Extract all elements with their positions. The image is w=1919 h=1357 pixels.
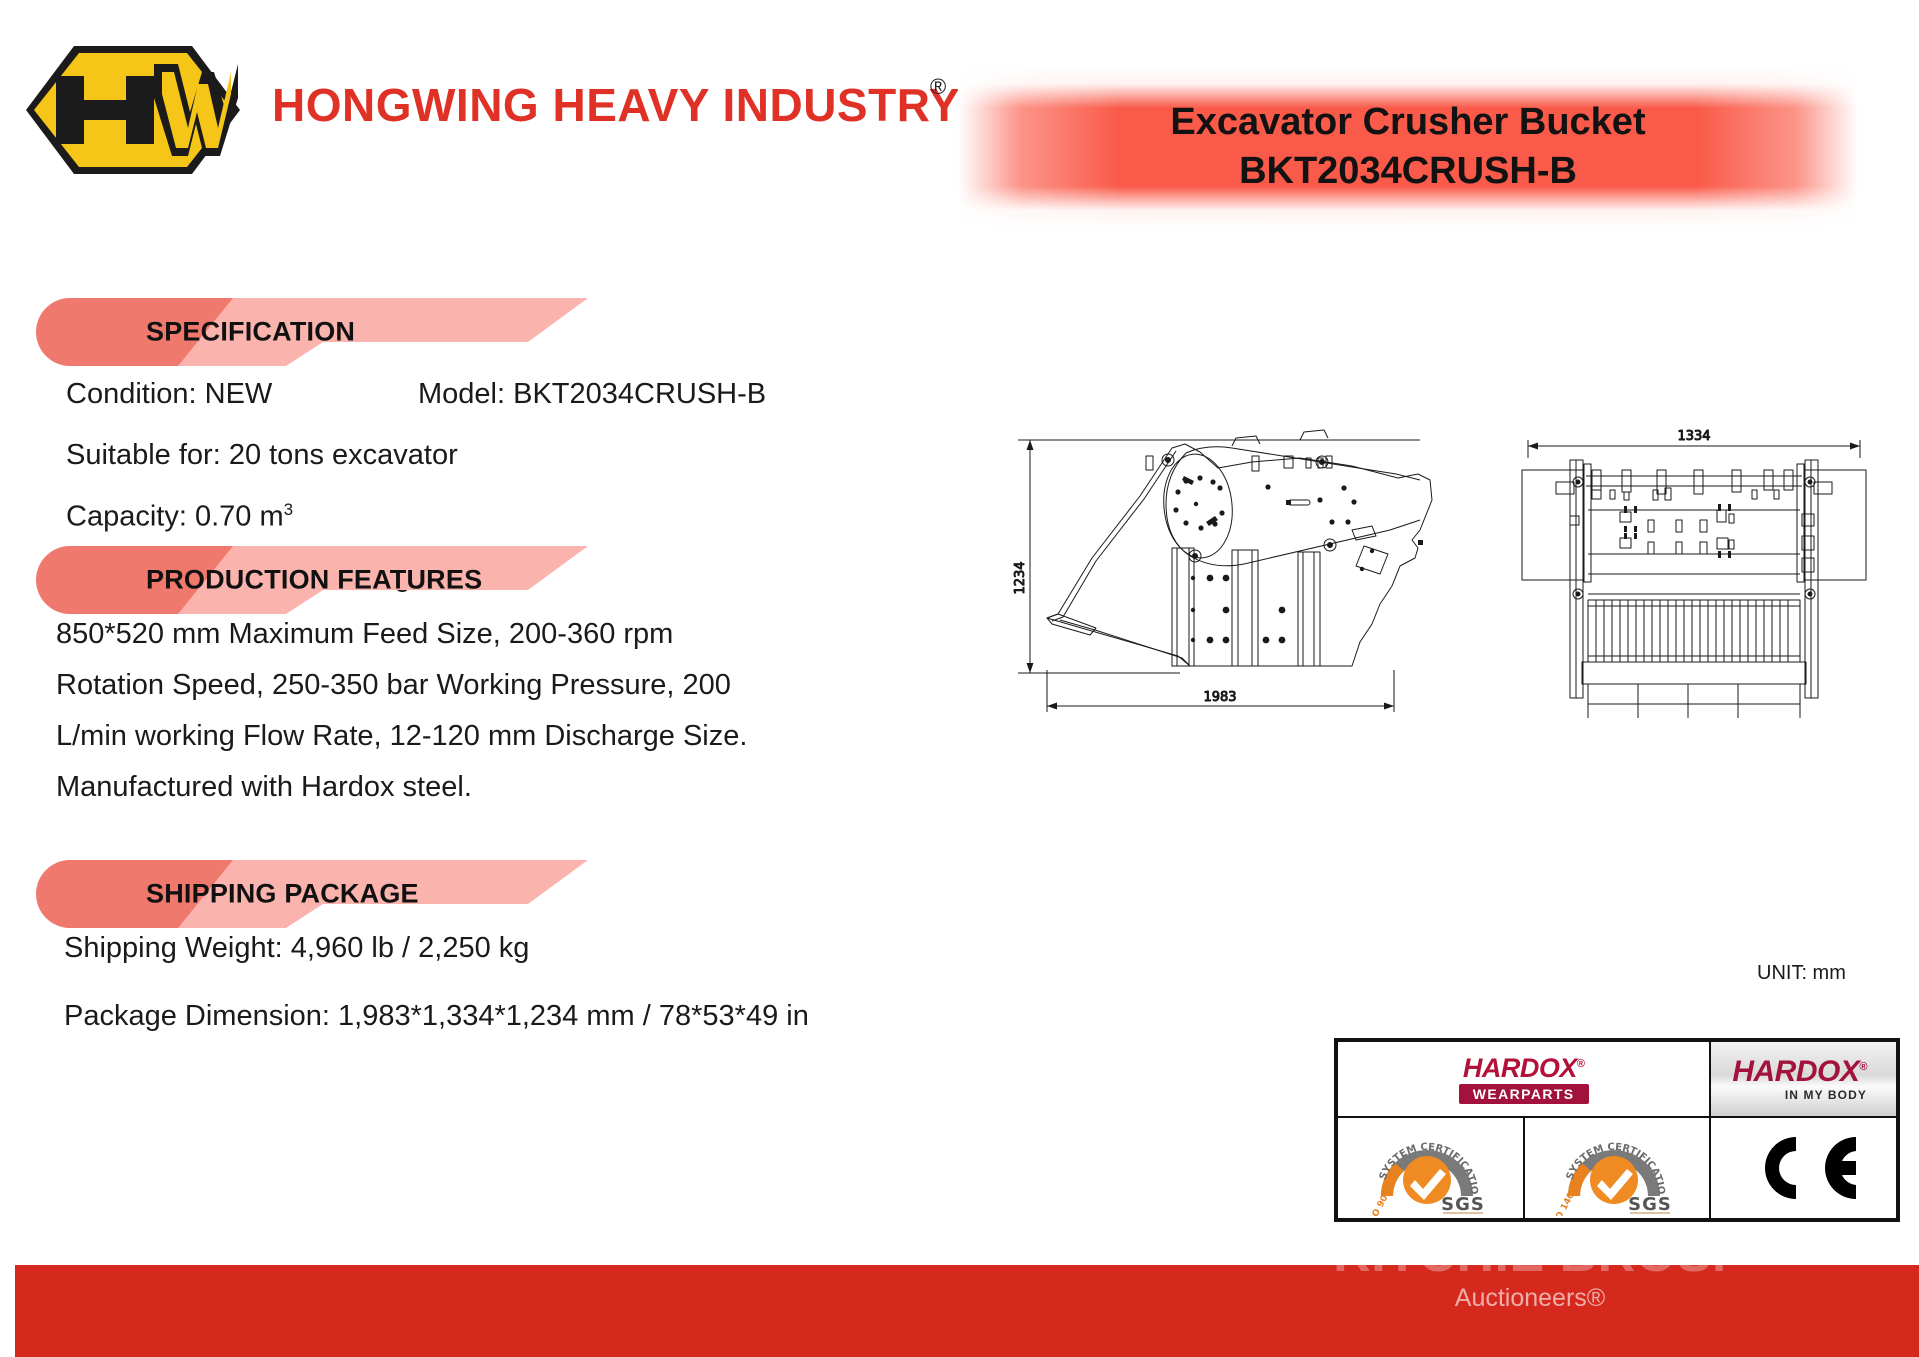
hardox-wearparts-sub: WEARPARTS [1459, 1084, 1589, 1104]
footer-bar [15, 1265, 1919, 1357]
feature-line-2: Rotation Speed, 250-350 bar Working Pres… [56, 669, 731, 702]
spec-suitable-for: Suitable for: 20 tons excavator [66, 439, 458, 472]
section-badge-specification: SPECIFICATION [28, 296, 588, 368]
sgs-seal-icon: SYSTEM CERTIFICATION ISO 9001 SGS [1355, 1120, 1505, 1216]
svg-text:1983: 1983 [1203, 690, 1236, 705]
hardox-wearparts-badge: HARDOX® WEARPARTS [1337, 1041, 1710, 1117]
section-title-production-features: PRODUCTION FEATURES [146, 565, 482, 596]
sgs-iso9001-badge: SYSTEM CERTIFICATION ISO 9001 SGS [1337, 1117, 1524, 1219]
technical-drawing: 1234 [1000, 418, 1900, 718]
hardox-body-brand-text: HARDOX [1732, 1055, 1859, 1088]
hardox-wearparts-brand-text: HARDOX [1463, 1053, 1577, 1083]
section-badge-production-features: PRODUCTION FEATURES [28, 544, 588, 616]
unit-label: UNIT: mm [1757, 962, 1846, 985]
spec-condition: Condition: NEW [66, 378, 272, 411]
ce-mark-icon [1744, 1129, 1864, 1207]
sgs-iso14001-badge: SYSTEM CERTIFICATION ISO 14001 SGS [1524, 1117, 1711, 1219]
spec-capacity-text: Capacity: 0.70 m [66, 501, 284, 533]
ce-mark-badge [1710, 1117, 1897, 1219]
section-title-shipping-package: SHIPPING PACKAGE [146, 879, 419, 910]
registered-icon: ® [1859, 1061, 1867, 1073]
hardox-body-sub: IN MY BODY [1732, 1088, 1867, 1102]
feature-line-4: Manufactured with Hardox steel. [56, 771, 472, 804]
feature-line-1: 850*520 mm Maximum Feed Size, 200-360 rp… [56, 618, 673, 651]
package-dimension: Package Dimension: 1,983*1,334*1,234 mm … [64, 1000, 809, 1033]
spec-capacity-exponent: 3 [284, 500, 293, 519]
spec-model: Model: BKT2034CRUSH-B [418, 378, 766, 411]
hardox-in-my-body-badge: HARDOX® IN MY BODY [1710, 1041, 1897, 1117]
sgs-seal-icon: SYSTEM CERTIFICATION ISO 14001 SGS [1542, 1120, 1692, 1216]
shipping-weight: Shipping Weight: 4,960 lb / 2,250 kg [64, 932, 529, 965]
registered-trademark-icon: ® [930, 74, 946, 100]
hongwing-logo [22, 36, 244, 184]
certification-badges: HARDOX® WEARPARTS HARDOX® IN MY BODY SYS… [1334, 1038, 1900, 1222]
iso-number: ISO 14001 [1550, 1180, 1583, 1216]
product-spec-sheet: HONGWING HEAVY INDUSTRY ® Excavator Crus… [0, 0, 1919, 1357]
registered-icon: ® [1577, 1058, 1585, 1070]
product-model: BKT2034CRUSH-B [1239, 147, 1577, 196]
product-title-banner: Excavator Crusher Bucket BKT2034CRUSH-B [958, 66, 1858, 228]
section-badge-shipping-package: SHIPPING PACKAGE [28, 858, 588, 930]
spec-capacity: Capacity: 0.70 m3 [66, 500, 293, 534]
section-title-specification: SPECIFICATION [146, 317, 355, 348]
hardox-body-brand: HARDOX® [1732, 1057, 1867, 1087]
company-name: HONGWING HEAVY INDUSTRY [272, 78, 960, 132]
iso-number: ISO 9001 [1366, 1183, 1396, 1216]
product-title: Excavator Crusher Bucket [1170, 98, 1645, 147]
svg-text:SGS: SGS [1628, 1194, 1672, 1215]
svg-text:1234: 1234 [1013, 561, 1028, 594]
hardox-wearparts-brand: HARDOX® [1459, 1055, 1589, 1082]
svg-text:1334: 1334 [1677, 429, 1710, 444]
svg-text:SGS: SGS [1441, 1194, 1485, 1215]
feature-line-3: L/min working Flow Rate, 12-120 mm Disch… [56, 720, 747, 753]
